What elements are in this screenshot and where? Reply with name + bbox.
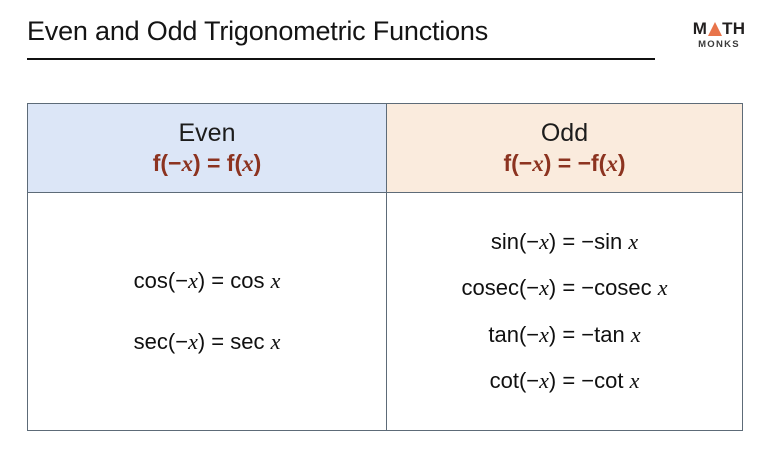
formula-cosec-var2: x <box>658 275 668 300</box>
formula-cot: cot(−x) = −cot x <box>490 369 640 393</box>
formula-cos-prefix: cos(− <box>134 268 188 293</box>
definition-odd-var1: x <box>532 151 544 176</box>
formula-cosec-prefix: cosec(− <box>461 275 539 300</box>
definition-even-var1: x <box>181 151 193 176</box>
formula-cos: cos(−x) = cos x <box>134 269 281 293</box>
logo-wordmark-top: M TH <box>688 20 750 37</box>
formula-list-odd: sin(−x) = −sin x cosec(−x) = −cosec x ta… <box>387 199 742 424</box>
table-body-row: cos(−x) = cos x sec(−x) = sec x sin(−x) … <box>28 193 742 430</box>
formula-cosec: cosec(−x) = −cosec x <box>461 276 667 300</box>
column-title-even: Even <box>179 120 236 147</box>
formula-tan: tan(−x) = −tan x <box>488 323 640 347</box>
formula-cot-var2: x <box>630 368 640 393</box>
formula-cot-var1: x <box>539 368 549 393</box>
formula-tan-prefix: tan(− <box>488 322 539 347</box>
formula-tan-var2: x <box>631 322 641 347</box>
table-header-row: Even f(−x) = f(x) Odd f(−x) = −f(x) <box>28 104 742 193</box>
table-body-cell-odd: sin(−x) = −sin x cosec(−x) = −cosec x ta… <box>386 193 742 430</box>
formula-sec-prefix: sec(− <box>134 329 188 354</box>
definition-even-prefix: f(− <box>153 150 182 176</box>
definition-even-end: ) <box>254 150 262 176</box>
formula-cos-var1: x <box>188 268 198 293</box>
formula-sec-var2: x <box>271 329 281 354</box>
formula-cot-mid: ) = −cot <box>549 368 630 393</box>
formula-sec-mid: ) = sec <box>198 329 271 354</box>
column-title-odd: Odd <box>541 120 588 147</box>
definition-even-mid: ) = f( <box>193 150 242 176</box>
formula-cos-var2: x <box>271 268 281 293</box>
formula-tan-var1: x <box>539 322 549 347</box>
formula-tan-mid: ) = −tan <box>549 322 631 347</box>
even-odd-trig-table: Even f(−x) = f(x) Odd f(−x) = −f(x) cos(… <box>27 103 743 431</box>
definition-odd-prefix: f(− <box>503 150 532 176</box>
definition-odd-var2: x <box>606 151 618 176</box>
formula-sec: sec(−x) = sec x <box>134 330 281 354</box>
formula-cosec-var1: x <box>539 275 549 300</box>
column-definition-even: f(−x) = f(x) <box>153 151 262 177</box>
table-header-cell-even: Even f(−x) = f(x) <box>28 104 386 192</box>
formula-cos-mid: ) = cos <box>198 268 271 293</box>
formula-list-even: cos(−x) = cos x sec(−x) = sec x <box>28 199 386 424</box>
formula-sin: sin(−x) = −sin x <box>491 230 638 254</box>
page-title: Even and Odd Trigonometric Functions <box>27 16 488 47</box>
formula-sin-prefix: sin(− <box>491 229 539 254</box>
math-monks-logo: M TH MONKS <box>688 20 750 50</box>
logo-letter-m: M <box>693 20 707 37</box>
formula-cosec-mid: ) = −cosec <box>549 275 658 300</box>
title-underline-rule <box>27 58 655 60</box>
column-definition-odd: f(−x) = −f(x) <box>503 151 625 177</box>
formula-sin-var2: x <box>628 229 638 254</box>
definition-odd-mid: ) = −f( <box>544 150 607 176</box>
formula-sin-var1: x <box>539 229 549 254</box>
table-header-cell-odd: Odd f(−x) = −f(x) <box>386 104 742 192</box>
formula-sec-var1: x <box>188 329 198 354</box>
definition-odd-end: ) <box>618 150 626 176</box>
formula-sin-mid: ) = −sin <box>549 229 628 254</box>
table-body-cell-even: cos(−x) = cos x sec(−x) = sec x <box>28 193 386 430</box>
triangle-a-icon <box>708 22 722 36</box>
logo-letters-th: TH <box>722 20 745 37</box>
definition-even-var2: x <box>242 151 254 176</box>
formula-cot-prefix: cot(− <box>490 368 540 393</box>
logo-wordmark-bottom: MONKS <box>688 40 750 50</box>
